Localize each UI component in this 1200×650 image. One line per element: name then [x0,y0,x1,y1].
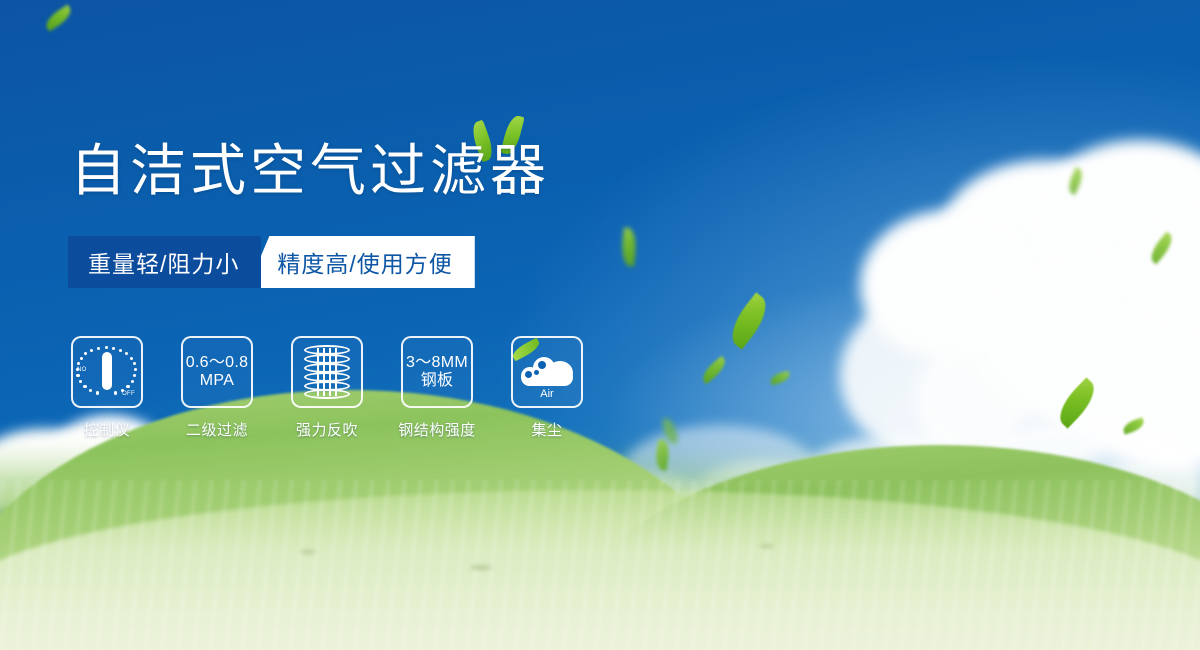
gauge-off-label: OFF [122,391,135,397]
grass-texture [0,480,1200,650]
pressure-unit-text: MPA [186,372,249,390]
feature-icon-box [291,336,363,408]
gauge-no-label: NO [77,367,87,373]
feature-caption: 强力反吹 [296,419,358,440]
pressure-value-icon: 0.6～0.8 MPA [186,354,249,390]
feature-item-steel[interactable]: 3～8MM 钢板 钢结构强度 [400,336,474,440]
feature-caption: 控制仪 [84,419,131,440]
feature-caption: 钢结构强度 [398,419,476,440]
product-banner: 自洁式空气过滤器 重量轻/阻力小 精度高/使用方便 [0,0,1200,650]
steel-plate-icon: 3～8MM 钢板 [406,354,468,390]
feature-item-pressure[interactable]: 0.6～0.8 MPA 二级过滤 [180,336,254,440]
feature-item-blowback[interactable]: 强力反吹 [290,336,364,440]
feature-caption: 二级过滤 [186,419,248,440]
feature-icon-box: NO OFF [71,336,143,408]
field-detail [470,565,492,570]
field-detail [760,544,774,548]
page-title: 自洁式空气过滤器 [70,143,550,199]
pressure-range-text: 0.6～0.8 [186,354,249,371]
control-gauge-icon: NO OFF [78,345,136,399]
feature-item-control-gauge[interactable]: NO OFF 控制仪 [70,336,144,440]
feature-caption: 集尘 [531,419,562,440]
feature-icon-box: 0.6～0.8 MPA [181,336,253,408]
steel-thickness-text: 3～8MM [406,354,468,371]
subtitle-segment-right: 精度高/使用方便 [247,236,474,288]
air-cloud-icon: Air [517,347,577,397]
feature-icon-box: Air [511,336,583,408]
field-detail [300,550,316,554]
air-label: Air [517,388,577,400]
filter-coil-icon [304,345,350,399]
feature-icon-box: 3～8MM 钢板 [401,336,473,408]
feature-list: NO OFF 控制仪 0.6～0.8 MPA 二级过滤 [70,336,584,440]
subtitle-segment-left: 重量轻/阻力小 [68,236,261,288]
feature-item-dust-collection[interactable]: Air 集尘 [510,336,584,440]
steel-material-text: 钢板 [406,372,468,390]
subtitle-bar: 重量轻/阻力小 精度高/使用方便 [68,236,475,288]
